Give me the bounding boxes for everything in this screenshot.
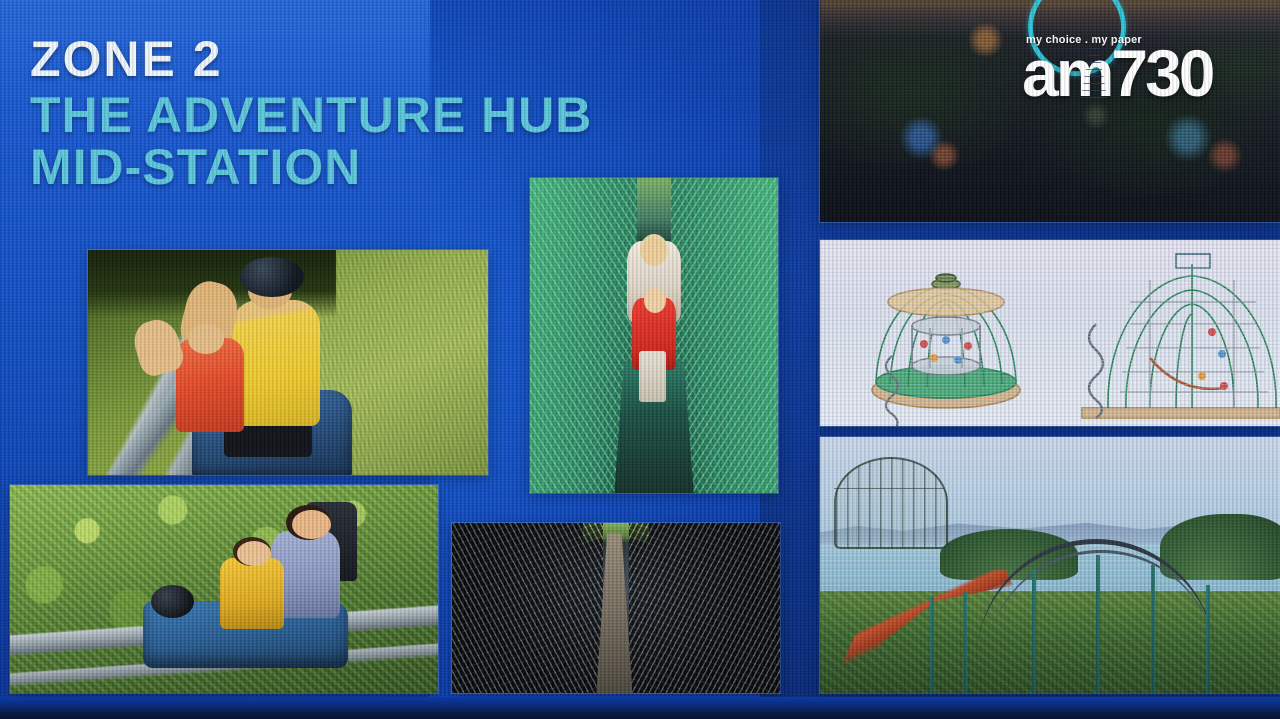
netclimb-led-texture xyxy=(452,523,780,693)
nettunnel-led-texture xyxy=(530,178,778,493)
photo-dark-rope-net-climb xyxy=(452,523,780,693)
slide-photo: ZONE 2 THE ADVENTURE HUB MID-STATION xyxy=(0,0,1280,719)
am730-watermark: my choice . my paper am730 xyxy=(1022,2,1262,114)
photo-green-rope-net-tunnel xyxy=(530,178,778,493)
headline-adventure-hub: THE ADVENTURE HUB xyxy=(30,90,592,140)
headline-zone: ZONE 2 xyxy=(30,34,592,84)
logo-wordmark: am730 xyxy=(1022,40,1213,106)
alpine1-led-texture xyxy=(88,250,488,475)
coasterbay-led-texture xyxy=(820,437,1280,693)
headline-block: ZONE 2 THE ADVENTURE HUB MID-STATION xyxy=(30,34,592,192)
domerender-led-texture xyxy=(820,240,1280,426)
photo-alpine-coaster-woman-child xyxy=(10,485,438,693)
alpine2-led-texture xyxy=(10,485,438,693)
photo-alpine-coaster-father-child xyxy=(88,250,488,475)
photo-coaster-over-bay-render xyxy=(820,437,1280,693)
headline-mid-station: MID-STATION xyxy=(30,142,592,192)
photo-dome-ride-technical-renders xyxy=(820,240,1280,426)
screen-bottom-edge xyxy=(0,710,1280,719)
